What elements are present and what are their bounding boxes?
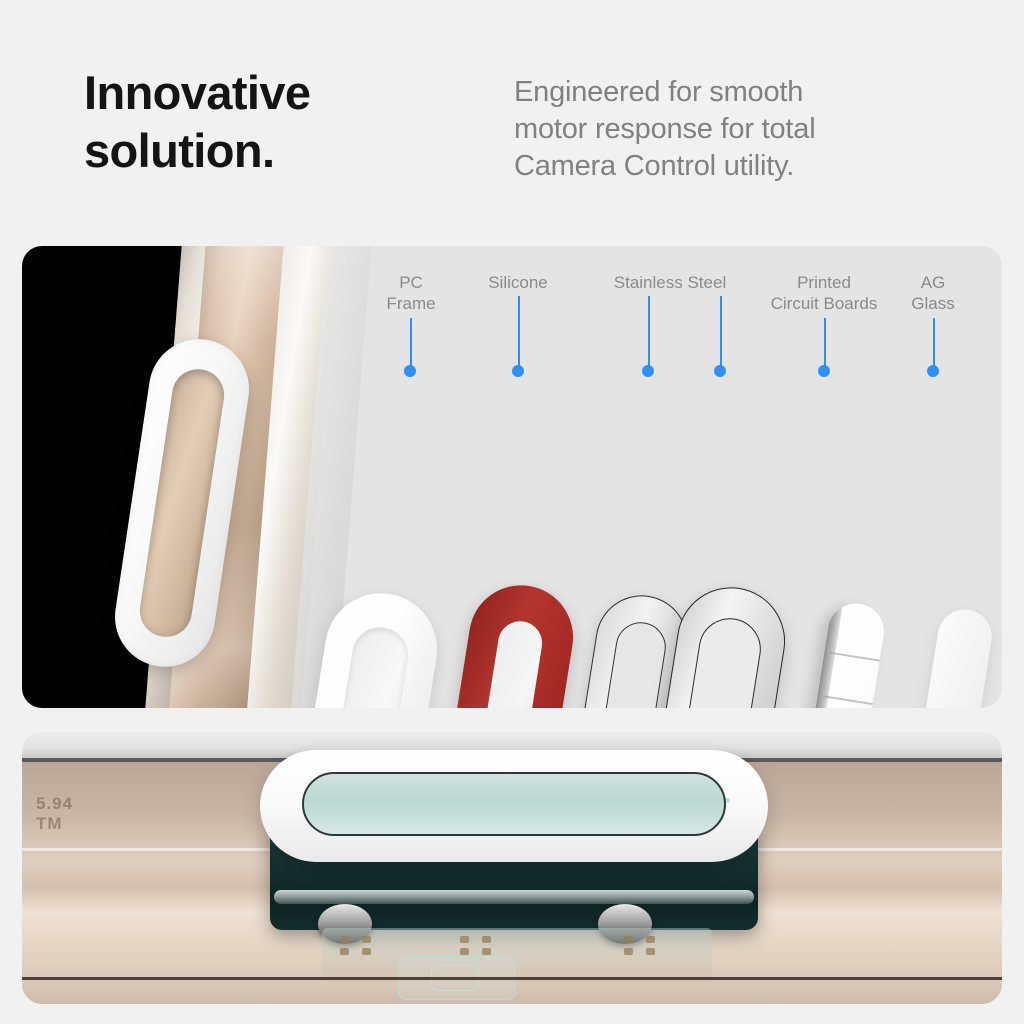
board-pad [362, 948, 371, 955]
callout-label-stainless-steel: Stainless Steel [586, 272, 754, 293]
pcb-segment-line [830, 652, 880, 661]
callout-label-pc-frame: PC Frame [381, 272, 441, 314]
callout-dot-silicone [512, 365, 524, 377]
circuit-pad [666, 808, 680, 820]
callout-label-silicone: Silicone [470, 272, 566, 293]
callout-dot-stainless-steel-outer [714, 365, 726, 377]
board-pad [340, 948, 349, 955]
board-pad [460, 936, 469, 943]
circuit-pad [666, 788, 680, 800]
circuit-pad [456, 808, 470, 820]
callout-line-ag-glass [933, 318, 935, 368]
board-pad [624, 936, 633, 943]
callout-dot-ag-glass [927, 365, 939, 377]
board-pad [482, 936, 491, 943]
circuit-pad [356, 788, 370, 800]
exploded-diagram-panel [22, 246, 1002, 708]
macro-photo-panel: 5.94 TM [22, 732, 1002, 1004]
callout-line-stainless-steel-outer [720, 296, 722, 368]
callout-label-ag-glass: AG Glass [905, 272, 961, 314]
part-ag-glass [894, 606, 995, 708]
board-pad [460, 948, 469, 955]
circuit-pad [456, 788, 470, 800]
board-pad [340, 936, 349, 943]
board-pad [624, 948, 633, 955]
callout-dot-printed-circuit-boards [818, 365, 830, 377]
callout-label-printed-circuit-boards: Printed Circuit Boards [748, 272, 900, 314]
etched-marking: 5.94 TM [36, 794, 73, 834]
board-pad [646, 936, 655, 943]
pcb-segment-line [823, 695, 873, 704]
board-pad [482, 948, 491, 955]
board-pad [646, 948, 655, 955]
phone-bottom-seam [22, 977, 1002, 980]
circuit-trace [338, 798, 430, 803]
header: Innovative solution. Engineered for smoo… [0, 0, 1024, 232]
board-pad [362, 936, 371, 943]
callout-line-printed-circuit-boards [824, 318, 826, 368]
page-subtitle: Engineered for smooth motor response for… [514, 74, 815, 185]
callout-line-stainless-steel-inner [648, 296, 650, 368]
part-printed-circuit-boards [784, 600, 888, 708]
callout-dot-stainless-steel-inner [642, 365, 654, 377]
callout-dot-pc-frame [404, 365, 416, 377]
callout-line-silicone [518, 296, 520, 368]
part-silicone [427, 578, 580, 708]
page-title: Innovative solution. [84, 64, 310, 180]
circuit-trace [658, 798, 730, 803]
camera-control-ring [260, 750, 768, 862]
circuit-pad [560, 808, 574, 820]
circuit-trace [544, 798, 640, 803]
circuit-trace [448, 798, 526, 803]
circuit-pad [560, 788, 574, 800]
product-feature-page: Innovative solution. Engineered for smoo… [0, 0, 1024, 1024]
macro-photo: 5.94 TM [22, 732, 1002, 1004]
circuit-pad [356, 808, 370, 820]
callout-line-pc-frame [410, 318, 412, 368]
